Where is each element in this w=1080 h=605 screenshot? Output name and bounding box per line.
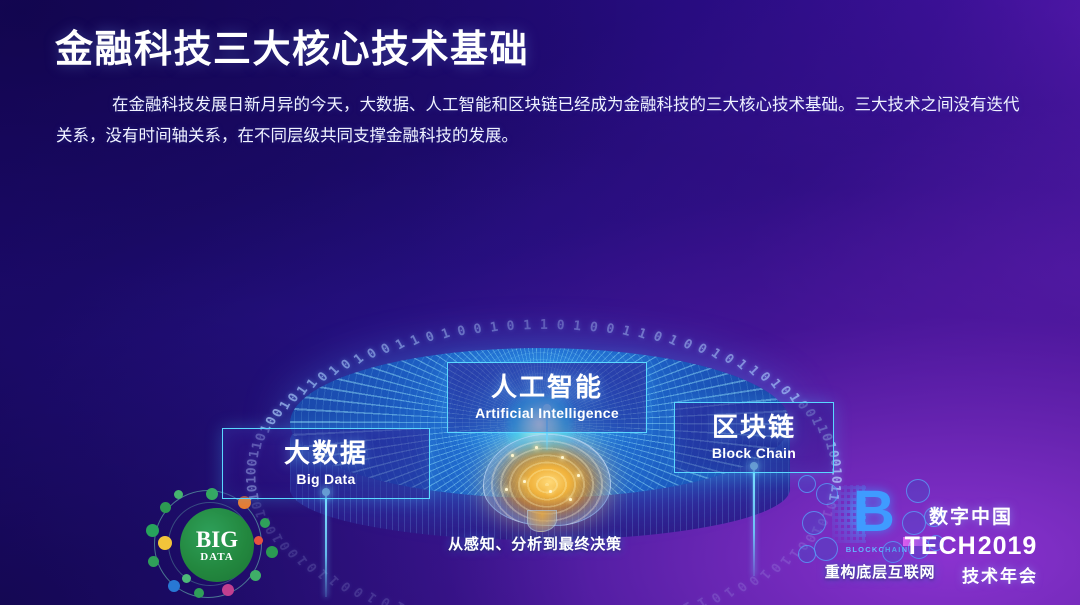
binary-digit: 0 bbox=[408, 602, 422, 605]
blockchain-letter: B bbox=[848, 483, 900, 545]
binary-digit: 1 bbox=[620, 323, 632, 340]
binary-digit: 0 bbox=[589, 320, 599, 336]
chain-node bbox=[798, 475, 816, 493]
cluster-node-dot bbox=[148, 556, 159, 567]
binary-digit: 1 bbox=[408, 332, 422, 349]
cluster-node-dot bbox=[160, 502, 171, 513]
binary-digit: 1 bbox=[326, 572, 342, 588]
label-box-big-data[interactable]: 大数据 Big Data bbox=[222, 428, 430, 499]
cluster-node-dot bbox=[174, 490, 183, 499]
big-data-badge: BIG DATA bbox=[180, 508, 254, 582]
binary-digit: 1 bbox=[636, 326, 648, 343]
binary-digit: 1 bbox=[666, 332, 680, 349]
cluster-node-dot bbox=[182, 574, 191, 583]
slide-canvas: 金融科技三大核心技术基础 在金融科技发展日新月异的今天，大数据、人工智能和区块链… bbox=[0, 0, 1080, 605]
label-ai-en: Artificial Intelligence bbox=[468, 405, 626, 421]
chain-node bbox=[814, 537, 838, 561]
cluster-node-dot bbox=[194, 588, 204, 598]
label-box-block-chain[interactable]: 区块链 Block Chain bbox=[674, 402, 834, 473]
chain-node bbox=[906, 479, 930, 503]
binary-digit: 1 bbox=[540, 318, 548, 333]
logo-tech-word: TECH bbox=[905, 532, 977, 561]
logo-subtitle-cn: 技术年会 bbox=[896, 562, 1046, 587]
chain-node bbox=[816, 483, 838, 505]
label-big-data-cn: 大数据 bbox=[243, 439, 409, 468]
binary-digit: 1 bbox=[393, 598, 407, 605]
brain-stem bbox=[527, 510, 557, 532]
cluster-node-dot bbox=[266, 546, 278, 558]
page-title: 金融科技三大核心技术基础 bbox=[55, 18, 529, 73]
cluster-node-dot bbox=[206, 488, 218, 500]
cluster-node-dot bbox=[250, 570, 261, 581]
binary-digit: 1 bbox=[756, 566, 772, 582]
binary-digit: 1 bbox=[721, 583, 737, 600]
binary-digit: 0 bbox=[424, 329, 437, 346]
binary-digit: 0 bbox=[556, 318, 565, 333]
binary-digit: 0 bbox=[605, 321, 616, 337]
big-data-badge-bottom: DATA bbox=[200, 551, 234, 563]
binary-digit: 1 bbox=[440, 326, 452, 343]
body-paragraph: 在金融科技发展日新月异的今天，大数据、人工智能和区块链已经成为金融科技的三大核心… bbox=[56, 90, 1024, 152]
label-ai-cn: 人工智能 bbox=[468, 373, 626, 402]
binary-digit: 0 bbox=[339, 578, 355, 594]
cluster-node-dot bbox=[260, 518, 270, 528]
cluster-node-dot bbox=[254, 536, 263, 545]
label-chain-cn: 区块链 bbox=[695, 413, 813, 442]
binary-digit: 1 bbox=[315, 566, 331, 582]
cluster-node-dot bbox=[222, 584, 234, 596]
binary-digit: 0 bbox=[270, 407, 287, 420]
cluster-node-dot bbox=[146, 524, 159, 537]
label-chain-en: Block Chain bbox=[695, 445, 813, 461]
conference-logo: 数字中国 TECH2019 技术年会 bbox=[896, 502, 1046, 587]
big-data-badge-top: BIG bbox=[196, 528, 238, 551]
connector-block-chain bbox=[753, 466, 755, 576]
cluster-node-dot bbox=[168, 580, 180, 592]
binary-digit: 0 bbox=[263, 415, 280, 428]
binary-digit: 1 bbox=[572, 319, 581, 335]
binary-digit: 0 bbox=[733, 578, 749, 594]
binary-digit: 0 bbox=[708, 588, 723, 605]
caption-artificial-intelligence: 从感知、分析到最终决策 bbox=[420, 534, 650, 556]
binary-digit: 0 bbox=[472, 321, 483, 337]
label-big-data-en: Big Data bbox=[243, 471, 409, 487]
binary-digit: 1 bbox=[489, 320, 499, 336]
binary-digit: 0 bbox=[456, 323, 468, 340]
binary-digit: 1 bbox=[694, 593, 709, 605]
binary-digit: 0 bbox=[506, 319, 515, 335]
label-box-artificial-intelligence[interactable]: 人工智能 Artificial Intelligence bbox=[447, 362, 647, 433]
chain-node bbox=[798, 545, 816, 563]
binary-digit: 1 bbox=[680, 598, 694, 605]
caption-ai-line1: 从感知、分析到最终决策 bbox=[420, 534, 650, 556]
binary-digit: 0 bbox=[666, 602, 680, 605]
binary-digit: 0 bbox=[651, 329, 664, 346]
logo-year: 2019 bbox=[978, 532, 1038, 561]
big-data-cluster-icon: BIG DATA bbox=[142, 488, 282, 603]
logo-title-cn: 数字中国 bbox=[896, 502, 1046, 529]
connector-big-data bbox=[325, 492, 327, 597]
binary-digit: 1 bbox=[365, 588, 380, 605]
binary-digit: 0 bbox=[379, 593, 394, 605]
binary-digit: 1 bbox=[523, 318, 532, 333]
cluster-node-dot bbox=[158, 536, 172, 550]
logo-tech-year: TECH2019 bbox=[896, 532, 1046, 561]
binary-digit: 0 bbox=[351, 583, 367, 600]
chain-node bbox=[802, 511, 826, 535]
